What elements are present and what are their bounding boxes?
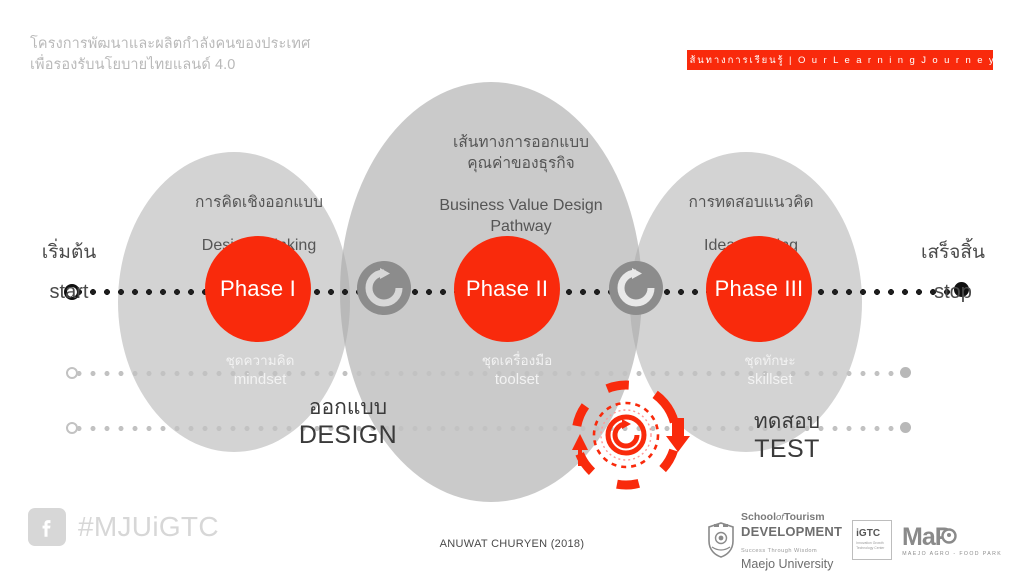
refresh-loop-icon (608, 260, 664, 316)
phase-3-label: Phase III (715, 276, 804, 302)
maejo-of: of (776, 512, 784, 523)
stop-label-group: เสร็จสิ้น stop (888, 243, 1018, 305)
maejo-tourism: Tourism (784, 511, 825, 523)
phase-1-bubble[interactable]: Phase I (205, 236, 311, 342)
map-subtitle: MAEJO AGRO - FOOD PARK (902, 551, 1002, 557)
rail2-end-marker-icon (900, 367, 911, 378)
stop-label-th: เสร็จสิ้น (888, 243, 1018, 264)
rail3-end-marker-icon (900, 422, 911, 433)
igtc-logo: iGTC Innovation Growth Technology Center (852, 520, 892, 560)
maejo-logo-text: SchoolofTourism DEVELOPMENT Success Thro… (741, 508, 842, 572)
phase-3-subset-en: skillset (705, 370, 835, 390)
phase-2-caption: เส้นทางการออกแบบ คุณค่าของธุรกิจ Busines… (396, 112, 646, 258)
map-wordmark-icon: MaP (902, 524, 1002, 550)
igtc-title: iGTC (856, 529, 880, 539)
phase-2-caption-en: Business Value Design Pathway (396, 195, 646, 237)
stage-test-en: TEST (722, 435, 852, 465)
phase-2-bubble[interactable]: Phase II (454, 236, 560, 342)
phase-3-subset: ชุดทักษะ skillset (705, 352, 835, 389)
phase-3-bubble[interactable]: Phase III (706, 236, 812, 342)
maejo-line-2: DEVELOPMENT (741, 524, 842, 539)
phase-1-caption-th: การคิดเชิงออกแบบ (164, 193, 354, 213)
maejo-school: School (741, 511, 776, 523)
refresh-loop-icon (356, 260, 412, 316)
start-label-en: start (4, 280, 134, 305)
map-logo: MaP MAEJO AGRO - FOOD PARK (902, 524, 1002, 557)
phase-2-label: Phase II (466, 276, 548, 302)
maejo-crest-icon (706, 521, 736, 559)
infographic-canvas: โครงการพัฒนาและผลิตกำลังคนของประเทศ เพื่… (0, 0, 1024, 576)
phase-3-subset-th: ชุดทักษะ (705, 352, 835, 370)
secondary-rail-stage (0, 426, 1024, 432)
phase-3-caption-th: การทดสอบแนวคิด (656, 193, 846, 213)
learning-journey-banner: เส้นทางการเรียนรู้ | O u r L e a r n i n… (687, 50, 993, 70)
rail2-start-marker-icon (66, 367, 78, 379)
phase-1-label: Phase I (220, 276, 296, 302)
partner-logos: SchoolofTourism DEVELOPMENT Success Thro… (706, 508, 1002, 572)
maejo-line-1: SchoolofTourism (741, 512, 825, 523)
phase-1-subset: ชุดความคิด mindset (195, 352, 325, 389)
phase-1-subset-th: ชุดความคิด (195, 352, 325, 370)
phase-2-caption-th: เส้นทางการออกแบบ คุณค่าของธุรกิจ (396, 133, 646, 174)
start-label-group: เริ่มต้น start (4, 243, 134, 305)
stage-label-test: ทดสอบ TEST (722, 410, 852, 464)
stage-label-design: ออกแบบ DESIGN (278, 396, 418, 450)
banner-label: เส้นทางการเรียนรู้ | O u r L e a r n i n… (684, 53, 995, 68)
stage-test-th: ทดสอบ (722, 410, 852, 435)
maejo-university-logo: SchoolofTourism DEVELOPMENT Success Thro… (706, 508, 842, 572)
page-title: โครงการพัฒนาและผลิตกำลังคนของประเทศ เพื่… (30, 34, 450, 75)
stage-design-th: ออกแบบ (278, 396, 418, 421)
stop-label-en: stop (888, 280, 1018, 305)
phase-1-subset-en: mindset (195, 370, 325, 390)
maejo-line-3: Success Through Wisdom (741, 548, 817, 554)
rail3-start-marker-icon (66, 422, 78, 434)
igtc-subtitle: Innovation Growth Technology Center (856, 541, 888, 551)
start-label-th: เริ่มต้น (4, 243, 134, 264)
phase-2-subset-th: ชุดเครื่องมือ (452, 352, 582, 370)
iterate-loop-icon (556, 374, 696, 496)
maejo-line-4: Maejo University (741, 557, 833, 571)
stage-design-en: DESIGN (278, 421, 418, 451)
